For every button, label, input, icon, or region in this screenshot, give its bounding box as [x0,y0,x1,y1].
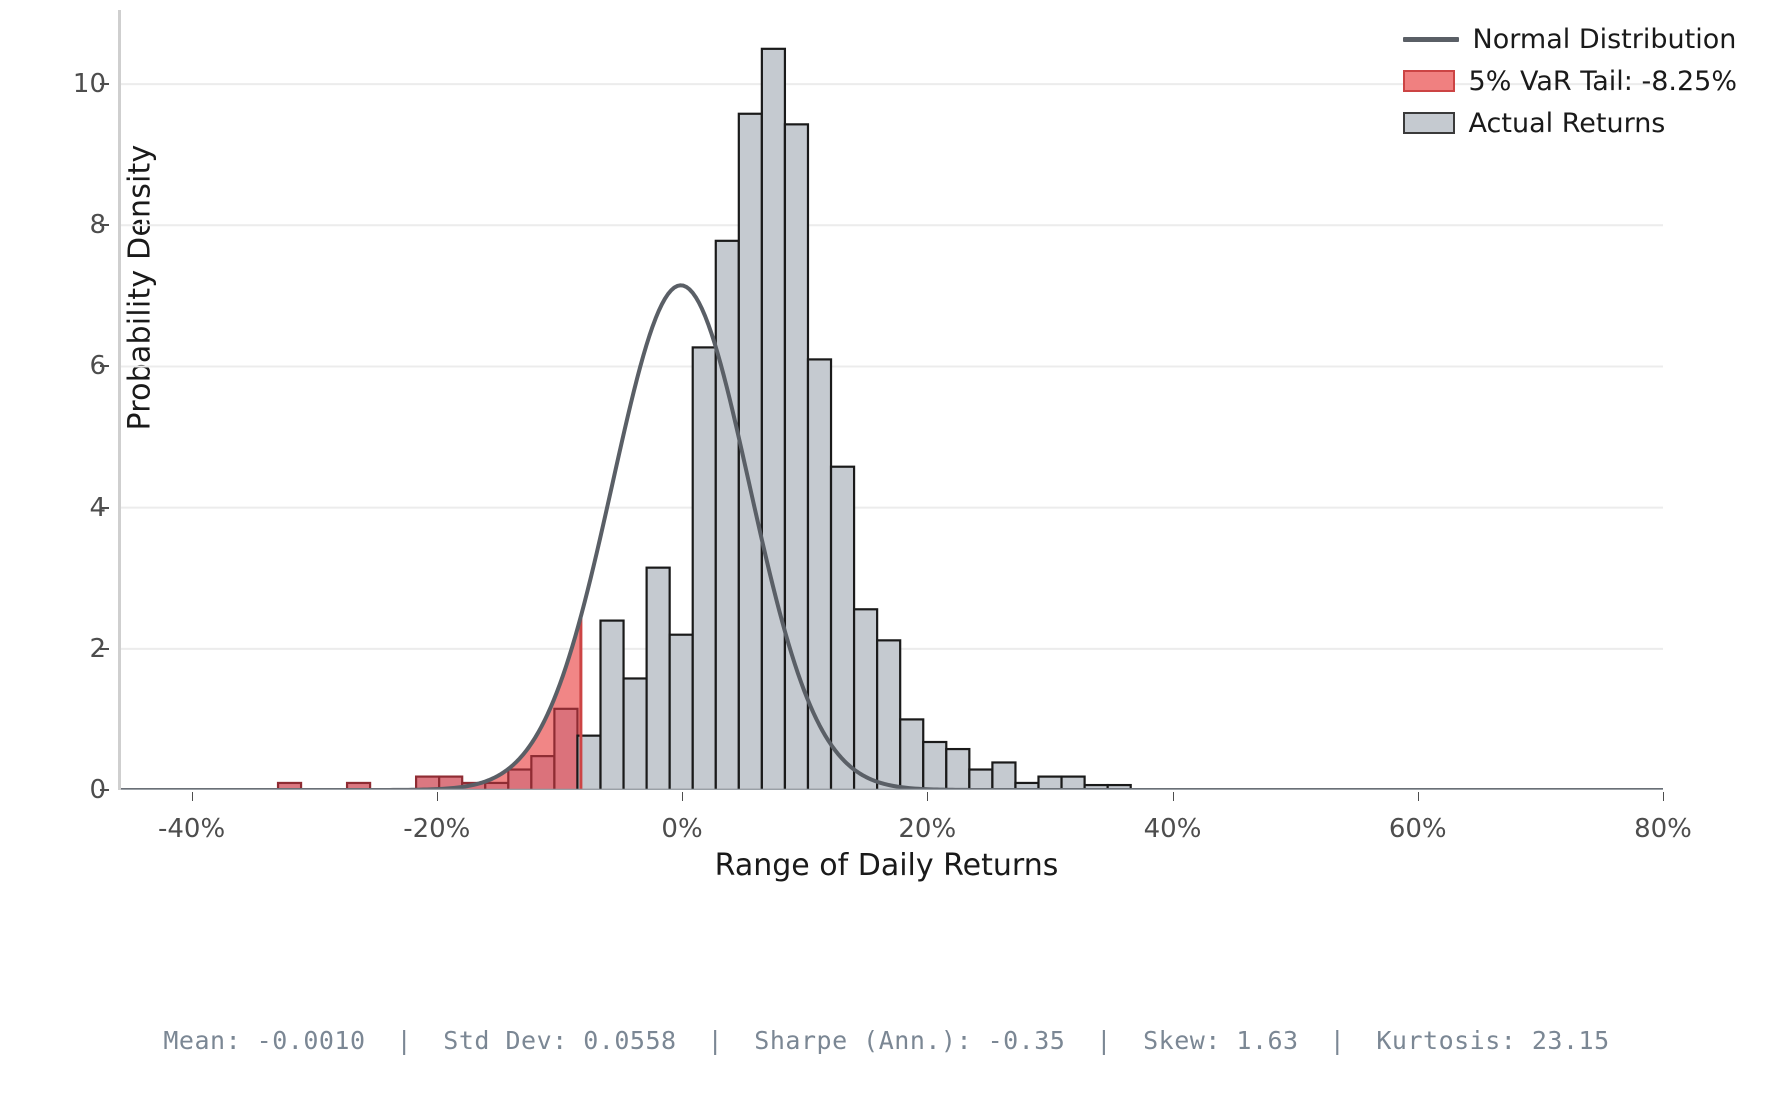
y-tick-label: 0 [46,775,106,805]
legend-box-swatch [1403,70,1455,92]
y-tick-mark [100,648,109,650]
histogram-bar [508,770,531,790]
summary-statistics: Mean: -0.0010 | Std Dev: 0.0558 | Sharpe… [0,1026,1773,1055]
y-tick-mark [100,224,109,226]
legend-item[interactable]: 5% VaR Tail: -8.25% [1403,64,1737,98]
histogram-bar [716,241,739,790]
histogram-bar [946,749,969,790]
x-axis-title: Range of Daily Returns [0,848,1773,883]
x-axis-ticks: -40%-20%0%20%40%60%80% [118,792,1663,852]
x-tick-mark [192,792,193,801]
legend-label: Normal Distribution [1473,24,1737,55]
histogram-bar [762,49,785,790]
x-tick-label: 0% [661,814,702,844]
y-tick-label: 2 [46,634,106,664]
legend-item[interactable]: Actual Returns [1403,106,1666,140]
histogram-bar [969,770,992,790]
histogram-bar [992,762,1015,790]
legend-line-swatch [1403,37,1459,42]
histogram-bar [647,568,670,790]
histogram-bar [693,347,716,790]
x-tick-label: 60% [1389,814,1447,844]
x-tick-label: 40% [1144,814,1202,844]
y-tick-mark [100,83,109,85]
x-tick-mark [437,792,438,801]
y-tick-label: 10 [46,69,106,99]
x-tick-mark [1663,792,1664,801]
histogram-bar [831,467,854,790]
histogram-bar [601,621,624,790]
y-tick-label: 8 [46,210,106,240]
histogram-bar [900,719,923,790]
histogram-bar [531,756,554,790]
y-tick-mark [100,789,109,791]
x-tick-label: -40% [158,814,225,844]
histogram-bar [624,678,647,790]
x-tick-mark [927,792,928,801]
legend-label: Actual Returns [1469,108,1666,139]
histogram-figure: Probability Density 0246810 -40%-20%0%20… [0,0,1773,1105]
histogram-bar [670,635,693,790]
x-tick-label: 20% [898,814,956,844]
histogram-bar [854,609,877,790]
histogram-bar [923,742,946,790]
legend-item[interactable]: Normal Distribution [1403,22,1737,56]
x-tick-mark [1173,792,1174,801]
legend-label: 5% VaR Tail: -8.25% [1469,66,1737,97]
x-tick-label: -20% [403,814,470,844]
x-tick-mark [682,792,683,801]
histogram-bar [1062,777,1085,790]
y-tick-mark [100,365,109,367]
histogram-bar [1039,777,1062,790]
y-tick-label: 6 [46,351,106,381]
y-tick-label: 4 [46,493,106,523]
y-tick-mark [100,507,109,509]
x-tick-mark [1418,792,1419,801]
histogram-bar [554,709,577,790]
y-axis-ticks: 0246810 [34,10,106,790]
x-tick-label: 80% [1634,814,1692,844]
histogram-bar [877,640,900,790]
chart-legend: Normal Distribution5% VaR Tail: -8.25%Ac… [1403,22,1737,140]
legend-box-swatch [1403,112,1455,134]
